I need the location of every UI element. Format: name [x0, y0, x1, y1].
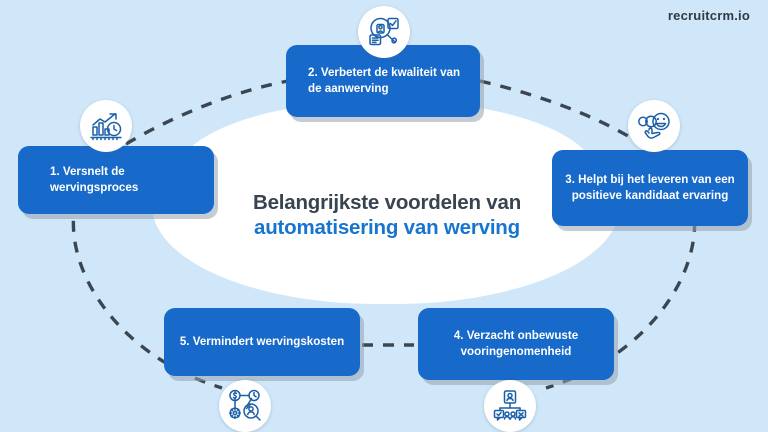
growth-chart-clock-icon [80, 100, 132, 152]
brand-logo-text: recruitcrm.io [668, 8, 750, 23]
benefit-card-3-label: 3. Helpt bij het leveren van een positie… [562, 172, 738, 205]
infographic-canvas: recruitcrm.io 1. Versnelt de wervingspro… [0, 0, 768, 432]
candidate-selection-bias-icon [484, 380, 536, 432]
benefit-card-5-label: 5. Vermindert wervingskosten [180, 334, 344, 350]
smiley-rating-hand-icon [628, 100, 680, 152]
benefit-card-1-label: 1. Versnelt de wervingsproces [28, 164, 204, 197]
center-title-line-1: Belangrijkste voordelen van [222, 190, 552, 215]
cost-time-efficiency-icon [219, 380, 271, 432]
center-title-line-2: automatisering van werving [222, 215, 552, 240]
benefit-card-3[interactable]: 3. Helpt bij het leveren van een positie… [552, 150, 748, 226]
benefit-card-1[interactable]: 1. Versnelt de wervingsproces [18, 146, 214, 214]
benefit-card-4-label: 4. Verzacht onbewuste vooringenomenheid [428, 328, 604, 361]
center-title: Belangrijkste voordelen van automatiseri… [222, 190, 552, 240]
benefit-card-4[interactable]: 4. Verzacht onbewuste vooringenomenheid [418, 308, 614, 380]
benefit-card-2-label: 2. Verbetert de kwaliteit van de aanwerv… [296, 65, 470, 98]
candidate-screening-checklist-icon [358, 6, 410, 58]
benefit-card-5[interactable]: 5. Vermindert wervingskosten [164, 308, 360, 376]
